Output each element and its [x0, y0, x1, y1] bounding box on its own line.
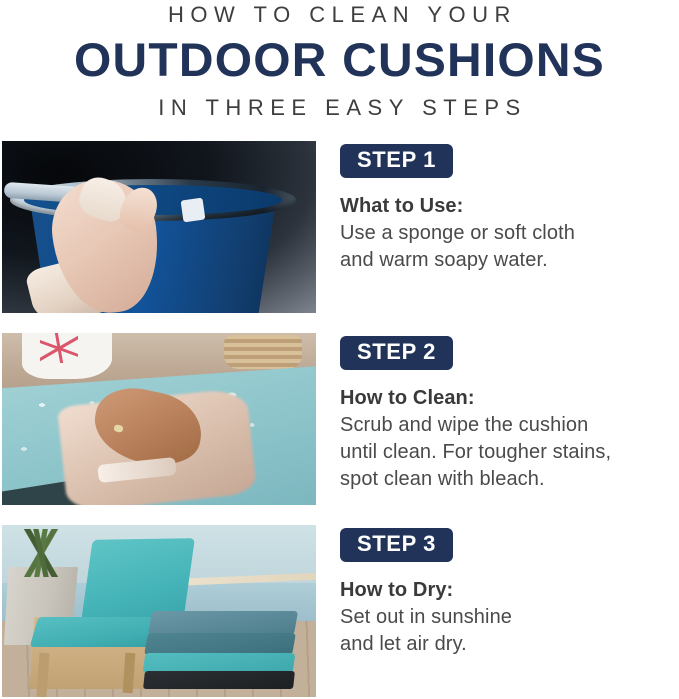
step-1-body: Use a sponge or soft cloth and warm soap…: [340, 220, 679, 274]
header-subline: IN THREE EASY STEPS: [0, 94, 679, 122]
agave-plant: [8, 529, 74, 577]
stacked-cushion-layer: [143, 653, 296, 673]
step-1-text: STEP 1 What to Use: Use a sponge or soft…: [316, 141, 679, 274]
step-1-heading: What to Use:: [340, 194, 679, 218]
step-3-text: STEP 3 How to Dry: Set out in sunshine a…: [316, 525, 679, 658]
wicker-basket: [224, 335, 302, 369]
step-2-text: STEP 2 How to Clean: Scrub and wipe the …: [316, 333, 679, 493]
header-eyebrow: HOW TO CLEAN YOUR: [0, 2, 679, 28]
bucket-rim-notch: [181, 198, 206, 223]
steps-list: STEP 1 What to Use: Use a sponge or soft…: [0, 141, 679, 699]
step-1-photo-bucket: [2, 141, 316, 313]
stacked-cushions: [144, 611, 296, 687]
step-row: STEP 2 How to Clean: Scrub and wipe the …: [0, 333, 679, 525]
step-3-heading: How to Dry:: [340, 578, 679, 602]
step-3-body: Set out in sunshine and let air dry.: [340, 604, 679, 658]
step-row: STEP 3 How to Dry: Set out in sunshine a…: [0, 525, 679, 699]
stacked-cushion-layer: [143, 671, 295, 689]
step-1-badge: STEP 1: [340, 144, 453, 178]
infographic-header: HOW TO CLEAN YOUR OUTDOOR CUSHIONS IN TH…: [0, 0, 679, 122]
stacked-cushion-layer: [148, 611, 298, 635]
step-2-photo-scrubbing: [2, 333, 316, 505]
step-3-badge: STEP 3: [340, 528, 453, 562]
header-headline: OUTDOOR CUSHIONS: [0, 32, 679, 88]
step-2-body: Scrub and wipe the cushion until clean. …: [340, 412, 679, 493]
step-3-photo-lounger: [2, 525, 316, 697]
step-2-badge: STEP 2: [340, 336, 453, 370]
step-2-heading: How to Clean:: [340, 386, 679, 410]
step-row: STEP 1 What to Use: Use a sponge or soft…: [0, 141, 679, 333]
stacked-cushion-layer: [144, 633, 296, 655]
